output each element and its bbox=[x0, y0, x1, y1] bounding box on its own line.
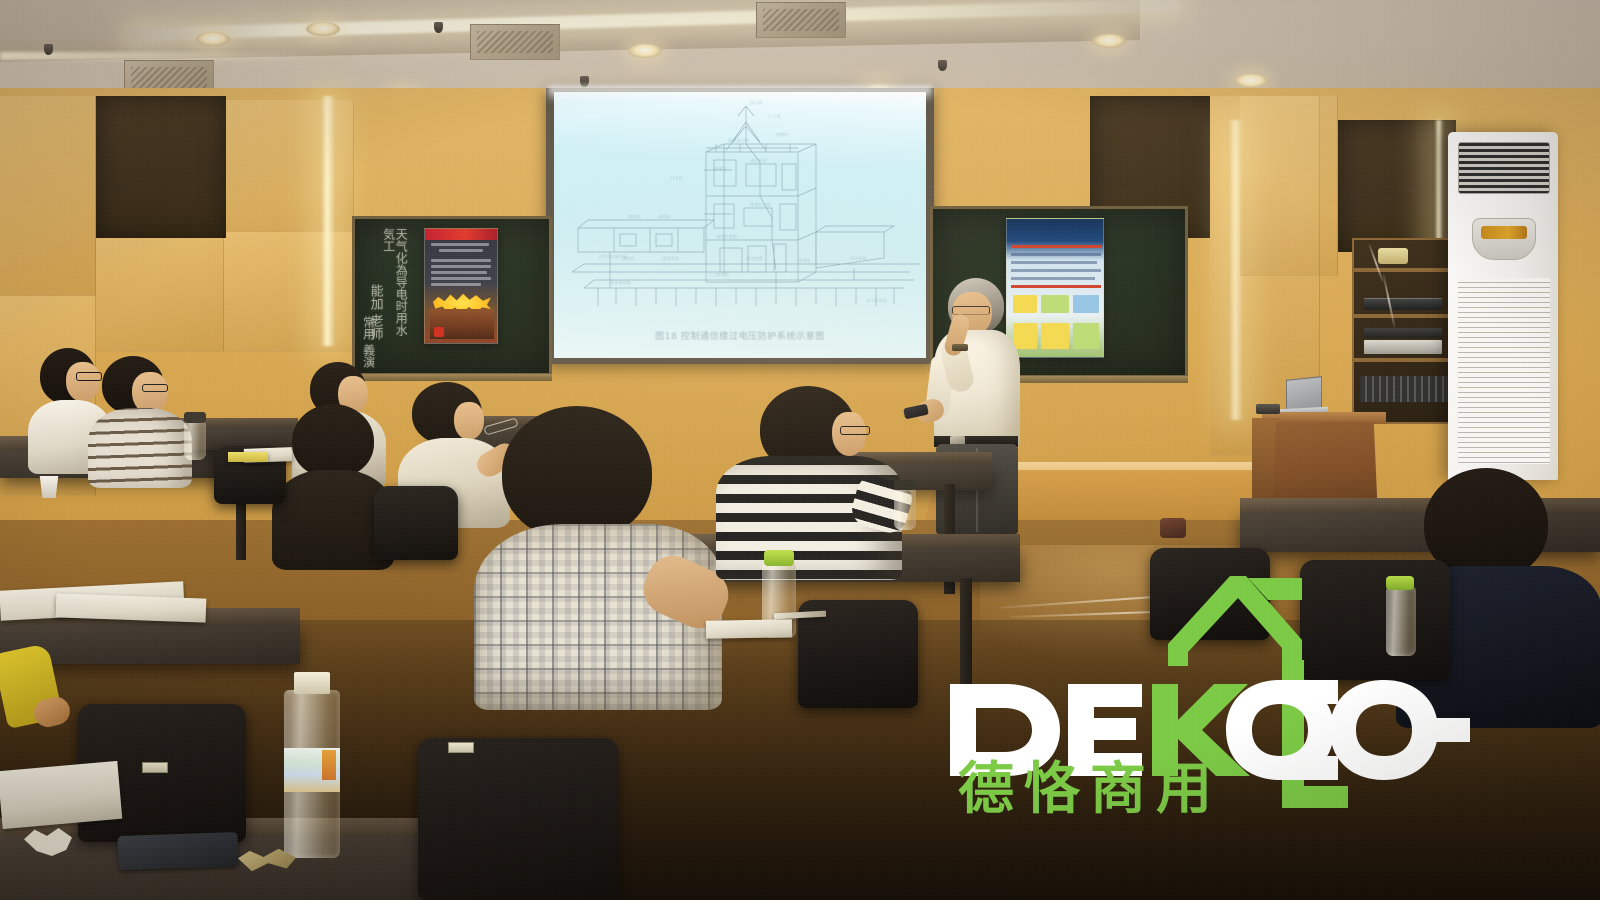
ceiling-downlight bbox=[306, 22, 340, 36]
poster-chart-band bbox=[1011, 261, 1097, 264]
ceiling-downlight bbox=[1092, 34, 1126, 48]
poster-text-line bbox=[431, 277, 491, 280]
svg-text:接地体: 接地体 bbox=[798, 257, 811, 264]
rack-mixer bbox=[1360, 376, 1448, 402]
poster-chart-band bbox=[1011, 253, 1101, 256]
svg-text:避雷针: 避雷针 bbox=[776, 131, 789, 138]
lecture-hall-photo: 接闪器 引下线 避雷针 屋面接闪带 引下线 配电室 通信机房 等电位连接 电源防… bbox=[0, 0, 1600, 900]
bottle-cap-green[interactable] bbox=[1386, 576, 1414, 590]
svg-text:接地装置: 接地装置 bbox=[746, 255, 763, 262]
cordless-telephone[interactable] bbox=[1378, 248, 1408, 264]
rack-shelf bbox=[1354, 358, 1450, 362]
attendee-yellow-sleeve bbox=[0, 648, 80, 758]
svg-text:环形接地: 环形接地 bbox=[850, 255, 868, 262]
ceiling-downlight bbox=[196, 32, 230, 46]
wall-panel bbox=[0, 96, 96, 296]
papers-bottom-foreground[interactable] bbox=[0, 761, 122, 829]
chair-asset-label bbox=[142, 762, 168, 773]
attendee-hair bbox=[292, 404, 374, 478]
attendee-glasses bbox=[142, 384, 168, 392]
poster-safety-notice bbox=[424, 228, 498, 344]
poster-text-line bbox=[431, 271, 487, 274]
poster-text-line bbox=[431, 259, 491, 262]
bottle-cap-green[interactable] bbox=[764, 550, 794, 566]
attendee-glasses bbox=[840, 426, 870, 435]
slide-caption: 图18 控制通信楼过电压防护系统示意图 bbox=[554, 329, 926, 342]
ceiling-air-vent bbox=[470, 24, 560, 60]
presenter bbox=[922, 278, 1042, 528]
poster-text-line bbox=[431, 265, 491, 268]
poster-text-line bbox=[439, 249, 483, 252]
svg-text:接地干线: 接地干线 bbox=[662, 255, 680, 262]
notepad-center[interactable] bbox=[706, 619, 792, 638]
ac-air-louvers bbox=[1458, 278, 1550, 464]
poster-chart-cell bbox=[1041, 323, 1069, 349]
rack-dvd-player bbox=[1364, 340, 1442, 354]
poster-chart-band bbox=[1011, 269, 1101, 272]
chair-center[interactable] bbox=[418, 738, 618, 900]
chair-far-right[interactable] bbox=[1300, 560, 1450, 680]
ceiling-downlight bbox=[1234, 74, 1268, 88]
document-yellow[interactable] bbox=[228, 452, 268, 462]
poster-chart-band bbox=[1011, 245, 1101, 248]
svg-text:进线段: 进线段 bbox=[658, 213, 671, 220]
slide-diagram: 接闪器 引下线 避雷针 屋面接闪带 引下线 配电室 通信机房 等电位连接 电源防… bbox=[554, 92, 926, 358]
chair-near-plaid[interactable] bbox=[374, 486, 458, 560]
poster-header bbox=[425, 229, 497, 240]
svg-text:人工接地极: 人工接地极 bbox=[708, 271, 730, 278]
svg-text:水平接地体: 水平接地体 bbox=[866, 297, 888, 304]
bottle-cap[interactable] bbox=[184, 412, 206, 423]
rack-shelf bbox=[1354, 268, 1450, 272]
ac-intake-grille bbox=[1458, 142, 1550, 194]
water-bottle-table-left[interactable] bbox=[184, 420, 206, 460]
attendee-hair bbox=[502, 406, 652, 540]
chair-asset-label bbox=[448, 742, 474, 753]
bottle-cap[interactable] bbox=[894, 480, 916, 490]
poster-chart-cell bbox=[1073, 295, 1099, 313]
fire-sprinkler-head bbox=[44, 44, 53, 55]
svg-text:屋面接闪带: 屋面接闪带 bbox=[728, 137, 749, 144]
svg-text:等电位连接: 等电位连接 bbox=[750, 201, 772, 208]
attendee-bold-stripes bbox=[716, 386, 906, 586]
wall-panel bbox=[96, 232, 224, 352]
poster-seal bbox=[434, 327, 444, 337]
poster-text-line bbox=[431, 243, 489, 246]
svg-text:电缆沟: 电缆沟 bbox=[628, 213, 641, 220]
rack-amplifier bbox=[1364, 298, 1442, 310]
table-leg bbox=[960, 578, 972, 718]
attendee-plaid-shirt bbox=[474, 406, 734, 706]
svg-text:电源防雷箱: 电源防雷箱 bbox=[716, 233, 737, 240]
rack-dvd-player-2 bbox=[1364, 328, 1442, 338]
svg-text:垂直接地极: 垂直接地极 bbox=[610, 279, 632, 286]
presenter-wristwatch bbox=[952, 344, 968, 351]
ac-display bbox=[1481, 226, 1527, 239]
svg-text:接地线: 接地线 bbox=[622, 255, 635, 262]
fire-sprinkler-head bbox=[434, 22, 443, 33]
ceiling-air-vent bbox=[756, 2, 846, 38]
water-bottle-right[interactable] bbox=[1386, 586, 1416, 656]
svg-text:引下线: 引下线 bbox=[670, 175, 683, 182]
projection-screen: 接闪器 引下线 避雷针 屋面接闪带 引下线 配电室 通信机房 等电位连接 电源防… bbox=[554, 92, 926, 358]
wall-panel bbox=[1240, 96, 1338, 276]
ceiling-downlight bbox=[628, 44, 662, 58]
smartphone[interactable] bbox=[117, 832, 238, 870]
chalk-writing: 天气化為导电时用水気工 bbox=[382, 228, 407, 340]
bag-on-stage[interactable] bbox=[1160, 518, 1186, 538]
svg-text:通信机房: 通信机房 bbox=[750, 157, 767, 164]
attendee-shirt bbox=[88, 408, 192, 488]
av-equipment-rack bbox=[1352, 238, 1452, 424]
rack-shelf bbox=[1354, 314, 1450, 318]
svg-text:引下线: 引下线 bbox=[768, 113, 781, 120]
acoustic-panel bbox=[96, 96, 226, 238]
water-bottle-presenter-table[interactable] bbox=[894, 488, 916, 530]
screen-top-glow bbox=[548, 86, 932, 102]
wall-light-strip bbox=[320, 96, 336, 346]
ac-control-panel[interactable] bbox=[1472, 218, 1536, 260]
bottle-cap[interactable] bbox=[294, 672, 330, 694]
bottle-label-accent bbox=[322, 750, 336, 780]
poster-chart-cell bbox=[1073, 323, 1099, 349]
podium-connector-plate[interactable] bbox=[1256, 404, 1280, 414]
poster-text-line bbox=[431, 283, 481, 286]
poster-chart-cell bbox=[1041, 295, 1069, 313]
chair-right-back[interactable] bbox=[1150, 548, 1270, 640]
fire-sprinkler-head bbox=[938, 60, 947, 71]
svg-text:配电室: 配电室 bbox=[714, 165, 727, 172]
